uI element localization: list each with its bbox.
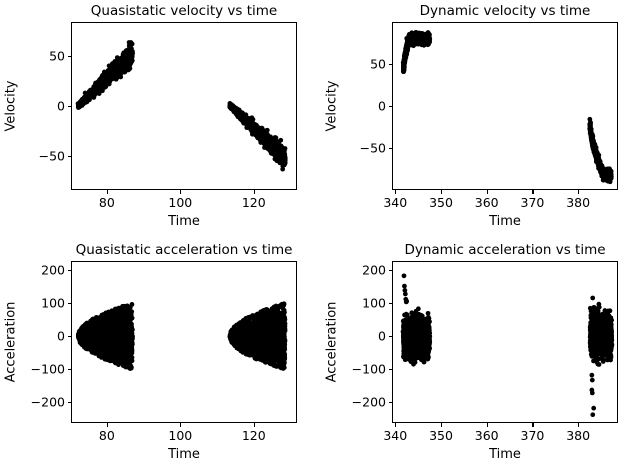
y-axis-title-dynamic-acceleration: Acceleration bbox=[325, 302, 340, 383]
x-tick-label-dynamic-acceleration-1: 350 bbox=[429, 429, 453, 442]
y-tick-label-dynamic-acceleration-0: −200 bbox=[330, 396, 386, 409]
x-tick-label-dynamic-acceleration-2: 360 bbox=[475, 429, 499, 442]
x-tick-dynamic-acceleration-2 bbox=[487, 423, 488, 427]
y-tick-dynamic-acceleration-1 bbox=[389, 369, 393, 370]
x-tick-dynamic-acceleration-0 bbox=[395, 423, 396, 427]
matplotlib-figure: Quasistatic velocity vs time80100120−500… bbox=[0, 0, 633, 475]
panel-dynamic-acceleration: Dynamic acceleration vs time340350360370… bbox=[0, 0, 633, 475]
x-tick-dynamic-acceleration-1 bbox=[441, 423, 442, 427]
panel-title-dynamic-acceleration: Dynamic acceleration vs time bbox=[392, 242, 618, 258]
scatter-canvas-dynamic-acceleration bbox=[393, 262, 617, 422]
y-tick-dynamic-acceleration-3 bbox=[389, 303, 393, 304]
x-axis-title-dynamic-acceleration: Time bbox=[489, 447, 521, 462]
y-tick-dynamic-acceleration-4 bbox=[389, 270, 393, 271]
y-tick-dynamic-acceleration-2 bbox=[389, 336, 393, 337]
y-tick-label-dynamic-acceleration-4: 200 bbox=[330, 264, 386, 277]
x-tick-label-dynamic-acceleration-0: 340 bbox=[383, 429, 407, 442]
x-tick-dynamic-acceleration-4 bbox=[578, 423, 579, 427]
y-tick-dynamic-acceleration-0 bbox=[389, 402, 393, 403]
x-tick-label-dynamic-acceleration-4: 380 bbox=[566, 429, 590, 442]
x-tick-dynamic-acceleration-3 bbox=[532, 423, 533, 427]
x-tick-label-dynamic-acceleration-3: 370 bbox=[520, 429, 544, 442]
